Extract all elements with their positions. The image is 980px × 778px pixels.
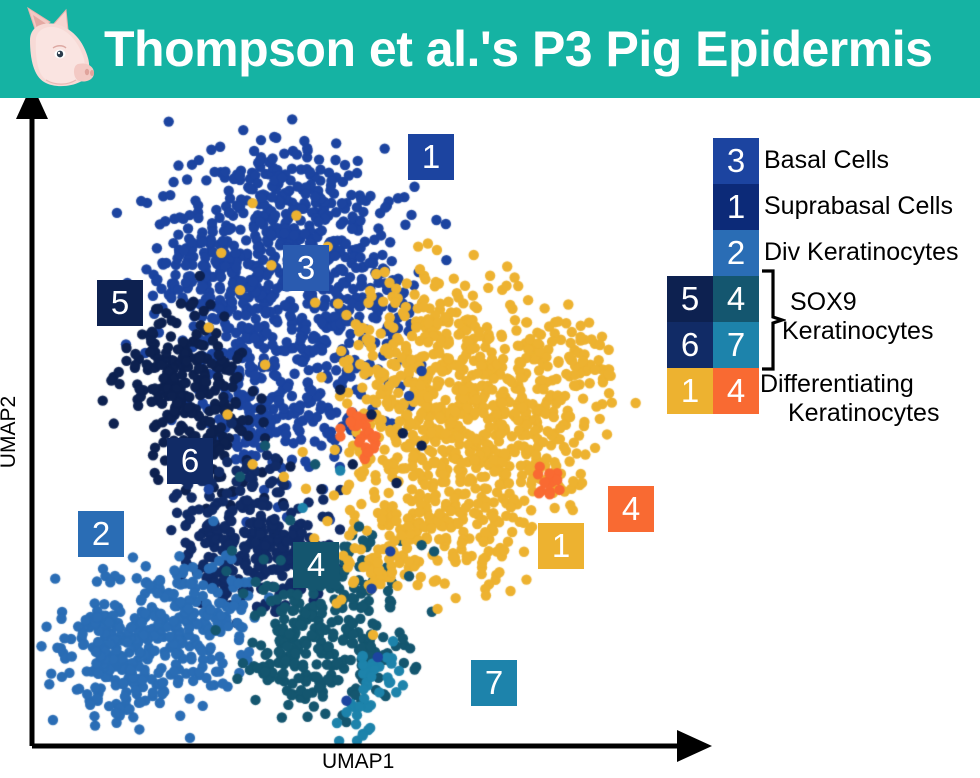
legend-swatch-4: 4 xyxy=(713,276,759,322)
sox9-bracket-icon xyxy=(760,268,786,372)
legend-swatch-1: 1 xyxy=(667,368,713,414)
legend-label-suprabasal-cells: Suprabasal Cells xyxy=(764,192,953,221)
cluster-label-3: 3 xyxy=(283,245,329,291)
diff-label-line1: Differentiating xyxy=(760,370,939,399)
legend-label-differentiating-keratinocytes: DifferentiatingKeratinocytes xyxy=(760,370,939,428)
diff-label-line2: Keratinocytes xyxy=(788,399,939,428)
cluster-label-4: 4 xyxy=(293,542,339,588)
cluster-label-4b: 4 xyxy=(608,486,654,532)
cluster-label-2: 2 xyxy=(78,511,124,557)
legend-swatch-7: 7 xyxy=(713,322,759,368)
legend-row-basal-cells[interactable]: 3Basal Cells xyxy=(660,138,980,184)
legend-row-div-keratinocytes[interactable]: 2Div Keratinocytes xyxy=(660,230,980,276)
legend-label-basal-cells: Basal Cells xyxy=(764,146,889,175)
pig-head-icon xyxy=(6,2,100,96)
header-band: Thompson et al.'s P3 Pig Epidermis xyxy=(0,0,980,98)
legend-swatch-6: 6 xyxy=(667,322,713,368)
cluster-label-1: 1 xyxy=(408,134,454,180)
cluster-label-1b: 1 xyxy=(538,523,584,569)
legend-swatch-3: 3 xyxy=(713,138,759,184)
legend-row-suprabasal-cells[interactable]: 1Suprabasal Cells xyxy=(660,184,980,230)
sox9-label-line1: SOX9 xyxy=(790,288,933,317)
cluster-label-5: 5 xyxy=(97,280,143,326)
cluster-label-7: 7 xyxy=(471,660,517,706)
legend-swatch-2: 2 xyxy=(713,230,759,276)
legend-swatch-4: 4 xyxy=(713,368,759,414)
y-axis-label: UMAP2 xyxy=(0,392,21,472)
sox9-label-line2: Keratinocytes xyxy=(782,317,933,346)
page-title: Thompson et al.'s P3 Pig Epidermis xyxy=(104,8,974,90)
legend-swatch-5: 5 xyxy=(667,276,713,322)
cluster-label-6: 6 xyxy=(167,438,213,484)
x-axis-label: UMAP1 xyxy=(322,750,394,774)
legend-label-div-keratinocytes: Div Keratinocytes xyxy=(764,238,959,267)
legend-label-sox9-keratinocytes: SOX9Keratinocytes xyxy=(790,288,933,346)
legend-swatch-1: 1 xyxy=(713,184,759,230)
